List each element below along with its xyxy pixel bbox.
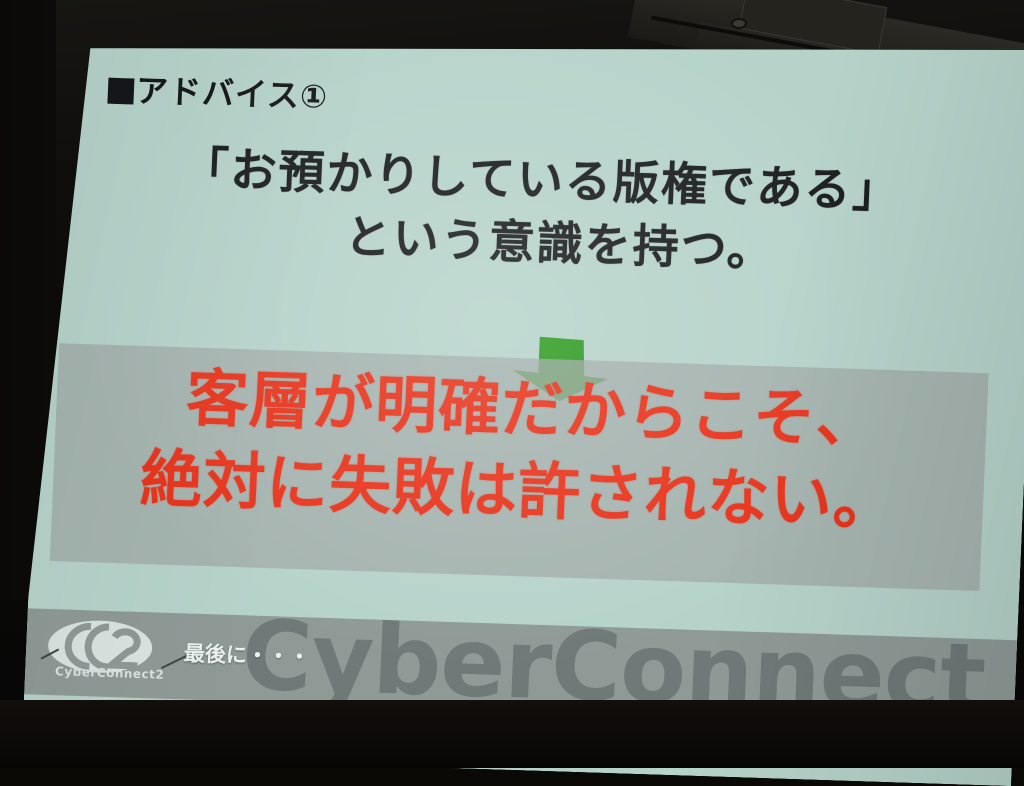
footer-label: 最後に・・・ bbox=[183, 637, 310, 671]
slide-content: アドバイス① 「お預かりしている版権である」 という意識を持つ。 客層が明確だか… bbox=[21, 13, 1024, 786]
statement-block: 「お預かりしている版権である」 という意識を持つ。 bbox=[43, 133, 1024, 290]
slide-heading: アドバイス① bbox=[107, 65, 329, 118]
heading-bullet-icon bbox=[107, 78, 134, 105]
heading-label: アドバイス① bbox=[135, 72, 329, 116]
cc2-logo-icon: CyberConnect2 bbox=[36, 617, 169, 691]
projection-screen-area: アドバイス① 「お預かりしている版権である」 という意識を持つ。 客層が明確だか… bbox=[0, 0, 1024, 768]
cc2-wordmark: CyberConnect2 bbox=[55, 664, 165, 682]
emphasis-text-block: 客層が明確だからこそ、 絶対に失敗は許されない。 bbox=[52, 353, 989, 547]
projection-screen: アドバイス① 「お預かりしている版権である」 という意識を持つ。 客層が明確だか… bbox=[21, 13, 1024, 786]
floor-shadow bbox=[0, 700, 1024, 768]
